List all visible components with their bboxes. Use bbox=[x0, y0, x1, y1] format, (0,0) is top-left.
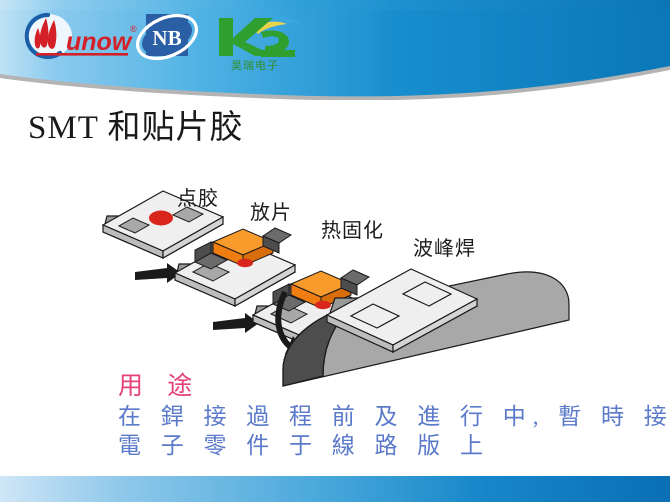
header-curve-shape bbox=[0, 0, 670, 100]
page-title: SMT 和贴片胶 bbox=[28, 100, 244, 148]
purpose-text-block: 用 途 在 銲 接 過 程 前 及 進 行 中, 暫 時 接 著 電 子 零 件… bbox=[118, 372, 638, 460]
step-label-cure: 热固化 bbox=[321, 214, 384, 243]
purpose-line-2: 電 子 零 件 于 線 路 版 上 bbox=[118, 431, 638, 460]
purpose-heading: 用 途 bbox=[118, 372, 638, 402]
slide-canvas: unow ® NB bbox=[0, 0, 670, 502]
arrow-2 bbox=[213, 313, 259, 333]
purpose-line-1: 在 銲 接 過 程 前 及 進 行 中, 暫 時 接 著 bbox=[118, 402, 638, 431]
smt-process-diagram: 点胶 放片 热固化 波峰焊 bbox=[95, 170, 595, 400]
smt-process-illustration bbox=[95, 170, 595, 400]
step-label-wave: 波峰焊 bbox=[413, 232, 476, 261]
step-label-dispense: 点胶 bbox=[177, 182, 219, 211]
header-banner: unow ® NB bbox=[0, 0, 670, 100]
glue-dot bbox=[149, 211, 173, 226]
glue-squeeze bbox=[237, 259, 253, 267]
step-label-place: 放片 bbox=[250, 196, 292, 225]
footer-banner bbox=[0, 476, 670, 502]
